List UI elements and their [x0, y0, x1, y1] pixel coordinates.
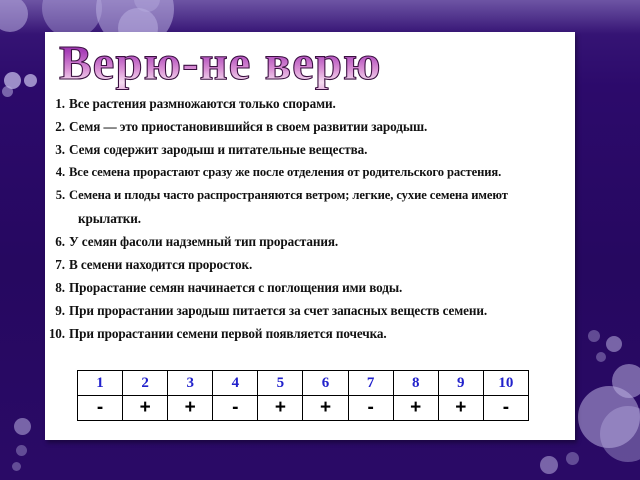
list-item-number: 3. — [45, 138, 65, 161]
question-number-cell: 3 — [168, 371, 213, 396]
answer-cell: - — [213, 396, 258, 421]
bubble-decoration — [606, 336, 622, 352]
table-row-headers: 1 2 3 4 5 6 7 8 9 10 — [78, 371, 529, 396]
list-item-text: крылатки. — [69, 207, 575, 230]
list-item-number: 10. — [45, 322, 65, 345]
list-item: 5. Семена и плоды часто распространяются… — [45, 184, 575, 207]
list-item-text: Семя — это приостановившийся в своем раз… — [69, 115, 575, 138]
table-row-answers: - + + - + + - + + - — [78, 396, 529, 421]
slide-canvas: Верю-не верю 1. Все растения размножаютс… — [0, 0, 640, 480]
list-item-number: 8. — [45, 276, 65, 299]
bubble-decoration — [540, 456, 558, 474]
bubble-decoration — [600, 406, 640, 462]
answer-cell: - — [348, 396, 393, 421]
answer-key-table: 1 2 3 4 5 6 7 8 9 10 - + + - + + — [77, 370, 529, 421]
list-item-number: 1. — [45, 92, 65, 115]
answer-cell: + — [123, 396, 168, 421]
list-item-continuation: крылатки. — [45, 207, 575, 230]
list-item-text: У семян фасоли надземный тип прорастания… — [69, 230, 575, 253]
bubble-decoration — [134, 0, 160, 12]
question-number-cell: 10 — [483, 371, 528, 396]
bubble-decoration — [588, 330, 600, 342]
question-number-cell: 4 — [213, 371, 258, 396]
list-item-number: 5. — [45, 184, 65, 207]
list-item: 2. Семя — это приостановившийся в своем … — [45, 115, 575, 138]
question-number-cell: 1 — [78, 371, 123, 396]
list-item: 4. Все семена прорастают сразу же после … — [45, 161, 575, 184]
answer-cell: + — [393, 396, 438, 421]
list-item-number: 7. — [45, 253, 65, 276]
page-title: Верю-не верю — [45, 34, 575, 90]
question-number-cell: 2 — [123, 371, 168, 396]
bubble-decoration — [2, 86, 13, 97]
list-item-text: Семена и плоды часто распространяются ве… — [69, 184, 575, 207]
list-item-text: При прорастании зародыш питается за счет… — [69, 299, 575, 322]
list-item-text: Все семена прорастают сразу же после отд… — [69, 161, 575, 184]
list-item: 6. У семян фасоли надземный тип прораста… — [45, 230, 575, 253]
list-item-text: Семя содержит зародыш и питательные веще… — [69, 138, 575, 161]
bubble-decoration — [12, 462, 21, 471]
bubble-decoration — [4, 72, 21, 89]
question-number-cell: 7 — [348, 371, 393, 396]
list-item: 8. Прорастание семян начинается с поглощ… — [45, 276, 575, 299]
bubble-decoration — [24, 74, 37, 87]
question-number-cell: 6 — [303, 371, 348, 396]
question-number-cell: 8 — [393, 371, 438, 396]
answer-cell: - — [483, 396, 528, 421]
list-item-number: 2. — [45, 115, 65, 138]
answer-cell: + — [168, 396, 213, 421]
question-number-cell: 9 — [438, 371, 483, 396]
answer-cell: + — [438, 396, 483, 421]
top-gradient-wash — [0, 0, 640, 34]
bubble-decoration — [14, 418, 31, 435]
list-item: 1. Все растения размножаются только спор… — [45, 92, 575, 115]
bubble-decoration — [16, 445, 27, 456]
list-item-number: 9. — [45, 299, 65, 322]
list-item: 10. При прорастании семени первой появля… — [45, 322, 575, 345]
statements-list: 1. Все растения размножаются только спор… — [45, 92, 575, 345]
page-title-text: Верю-не верю — [59, 35, 382, 90]
list-item-text: Прорастание семян начинается с поглощени… — [69, 276, 575, 299]
question-number-cell: 5 — [258, 371, 303, 396]
bubble-decoration — [566, 452, 579, 465]
list-item: 7. В семени находится проросток. — [45, 253, 575, 276]
list-item: 3. Семя содержит зародыш и питательные в… — [45, 138, 575, 161]
answer-cell: + — [258, 396, 303, 421]
list-item-number: 4. — [45, 161, 65, 184]
bubble-decoration — [578, 386, 640, 448]
content-panel: Верю-не верю 1. Все растения размножаютс… — [45, 32, 575, 440]
list-item-number: 6. — [45, 230, 65, 253]
bubble-decoration — [596, 352, 606, 362]
list-item: 9. При прорастании зародыш питается за с… — [45, 299, 575, 322]
list-item-text: Все растения размножаются только спорами… — [69, 92, 575, 115]
answer-cell: - — [78, 396, 123, 421]
list-item-text: При прорастании семени первой появляется… — [69, 322, 575, 345]
bubble-decoration — [0, 0, 28, 32]
bubble-decoration — [612, 364, 640, 398]
list-item-text: В семени находится проросток. — [69, 253, 575, 276]
answer-cell: + — [303, 396, 348, 421]
